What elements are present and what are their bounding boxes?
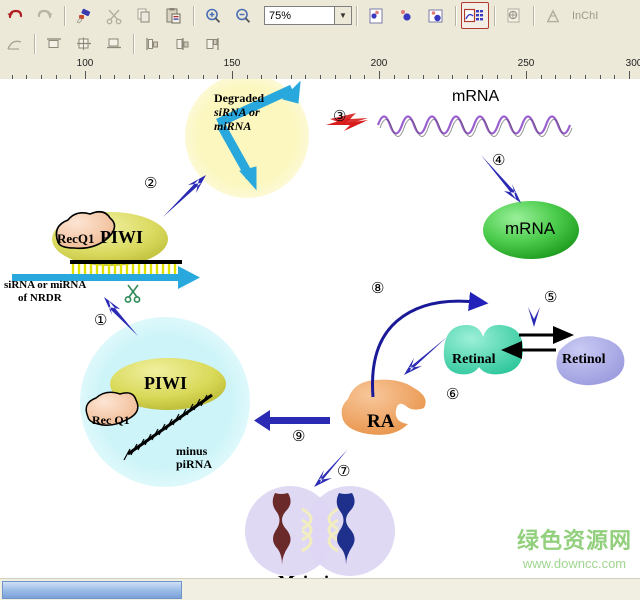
degraded-line-1: Degraded [214, 91, 264, 105]
retinol-label: Retinol [562, 352, 606, 368]
minus-pirna-line-2: piRNA [176, 458, 212, 471]
scissors-icon [125, 285, 139, 302]
arrow-step5 [528, 272, 540, 327]
toolbar2-separator-1 [34, 34, 35, 54]
horizontal-ruler: 100150200250300 [0, 57, 640, 80]
step-number-1: ① [94, 311, 107, 330]
toolbar-separator-4 [455, 6, 456, 26]
zoom-in-icon[interactable] [199, 2, 227, 29]
align-bottom-icon[interactable] [100, 31, 128, 58]
retinal-label: Retinal [452, 352, 496, 368]
mrna-blob-label: mRNA [505, 219, 555, 239]
mrna-wave-label: mRNA [452, 88, 499, 106]
step-number-7: ⑦ [337, 462, 350, 481]
toolbar-secondary [0, 31, 640, 58]
ruler-tick-major [526, 71, 527, 79]
zoom-level-combobox[interactable]: 75% ▼ [264, 6, 352, 25]
cut-icon[interactable] [100, 2, 128, 29]
align-left-icon[interactable] [139, 31, 167, 58]
sirna-label-line-1: siRNA or miRNA [4, 279, 86, 292]
curve-tool-icon[interactable] [1, 31, 29, 58]
equilibrium-arrows [519, 335, 556, 350]
step-number-9: ⑨ [292, 427, 305, 446]
step-number-6: ⑥ [446, 385, 459, 404]
chevron-down-icon[interactable]: ▼ [334, 7, 351, 24]
paste-icon[interactable] [160, 2, 188, 29]
arrow-step6 [404, 337, 447, 375]
degraded-rna-label: Degraded siRNA or miRNA [214, 91, 264, 133]
align-middle-icon[interactable] [70, 31, 98, 58]
toolbar-separator-2 [193, 6, 194, 26]
table-tool-icon[interactable] [461, 2, 489, 29]
toolbar-separator-1 [64, 6, 65, 26]
toolbar-separator-5 [494, 6, 495, 26]
horizontal-scrollbar[interactable] [0, 578, 640, 600]
ruler-tick-major [232, 71, 233, 79]
scrollbar-thumb[interactable] [2, 581, 182, 599]
align-center-icon[interactable] [169, 31, 197, 58]
piwi-top-label: PIWI [100, 227, 143, 248]
step-number-2: ② [144, 174, 157, 193]
structure-icon[interactable] [500, 2, 528, 29]
ruler-tick-major [85, 71, 86, 79]
redo-icon[interactable] [31, 2, 59, 29]
step-number-4: ④ [492, 151, 505, 170]
ruler-label: 150 [224, 58, 241, 69]
ruler-label: 300 [626, 58, 640, 69]
ruler-tick-major [629, 71, 630, 79]
mrna-wave [378, 117, 570, 134]
sirna-label-line-2: of NRDR [4, 292, 86, 305]
format-painter-icon[interactable] [70, 2, 98, 29]
step-number-5: ⑤ [544, 288, 557, 307]
step-number-3: ③ [333, 107, 346, 126]
ruler-label: 200 [371, 58, 388, 69]
copy-icon[interactable] [130, 2, 158, 29]
sirna-source-label: siRNA or miRNA of NRDR [4, 279, 86, 305]
ruler-label: 250 [518, 58, 535, 69]
toolbar-separator-6 [533, 6, 534, 26]
ruler-label: 100 [77, 58, 94, 69]
toolbar-separator-3 [356, 6, 357, 26]
recq1-bottom-label: Rec Q1 [92, 413, 130, 428]
undo-icon[interactable] [1, 2, 29, 29]
ruler-tick-major [379, 71, 380, 79]
atom-pair-icon[interactable] [392, 2, 420, 29]
atom-group-icon[interactable] [422, 2, 450, 29]
recq1-top-label: RecQ1 [57, 231, 95, 247]
toolbar2-separator-2 [133, 34, 134, 54]
minus-pirna-label: minus piRNA [176, 445, 212, 471]
atom-single-icon[interactable] [362, 2, 390, 29]
ra-label: RA [367, 411, 394, 433]
diagram-canvas[interactable]: Degraded siRNA or miRNA mRNA PIWI RecQ1 … [0, 79, 640, 579]
application-window: 75% ▼ [0, 0, 640, 600]
toolbar-primary: 75% ▼ [0, 0, 640, 32]
zoom-out-icon[interactable] [229, 2, 257, 29]
degraded-line-2: siRNA or [214, 105, 264, 119]
step-number-8: ⑧ [371, 279, 384, 298]
align-top-icon[interactable] [40, 31, 68, 58]
zoom-level-value: 75% [269, 10, 291, 22]
degraded-line-3: miRNA [214, 119, 264, 133]
align-right-icon[interactable] [199, 31, 227, 58]
inchi-icon[interactable] [539, 2, 567, 29]
arrow-step2 [163, 175, 206, 217]
duplex-backbone [70, 260, 182, 264]
inchi-label: InChI [572, 10, 598, 22]
piwi-bottom-label: PIWI [144, 373, 187, 394]
